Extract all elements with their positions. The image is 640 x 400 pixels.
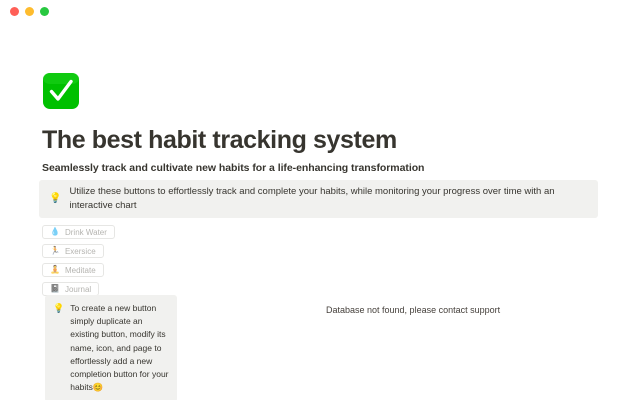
habit-button-label: Exersice <box>65 247 96 256</box>
window-close-button[interactable] <box>10 7 19 16</box>
window-minimize-button[interactable] <box>25 7 34 16</box>
notebook-icon: 📓 <box>50 285 60 293</box>
window-titlebar <box>0 0 640 22</box>
page-title: The best habit tracking system <box>42 125 397 155</box>
running-icon: 🏃 <box>50 247 60 255</box>
page-content: The best habit tracking system Seamlessl… <box>0 22 640 400</box>
database-error-message: Database not found, please contact suppo… <box>326 305 500 315</box>
window-zoom-button[interactable] <box>40 7 49 16</box>
habit-button-label: Meditate <box>65 266 96 275</box>
page-subtitle: Seamlessly track and cultivate new habit… <box>42 162 424 174</box>
tip-callout-text: To create a new button simply duplicate … <box>70 302 169 394</box>
habit-button-drink-water[interactable]: 💧 Drink Water <box>42 225 115 239</box>
habit-button-list: 💧 Drink Water 🏃 Exersice 🧘 Meditate 📓 Jo… <box>42 225 115 296</box>
meditation-icon: 🧘 <box>50 266 60 274</box>
tip-callout: 💡 To create a new button simply duplicat… <box>45 295 177 400</box>
lightbulb-icon: 💡 <box>53 302 64 315</box>
lightbulb-icon: 💡 <box>49 194 61 204</box>
check-mark-icon[interactable] <box>42 72 80 110</box>
habit-button-exersice[interactable]: 🏃 Exersice <box>42 244 104 258</box>
info-callout-text: Utilize these buttons to effortlessly tr… <box>69 185 588 213</box>
habit-button-label: Journal <box>65 285 91 294</box>
habit-button-meditate[interactable]: 🧘 Meditate <box>42 263 104 277</box>
info-callout: 💡 Utilize these buttons to effortlessly … <box>39 180 598 218</box>
habit-button-label: Drink Water <box>65 228 107 237</box>
habit-button-journal[interactable]: 📓 Journal <box>42 282 99 296</box>
droplet-icon: 💧 <box>50 228 60 236</box>
